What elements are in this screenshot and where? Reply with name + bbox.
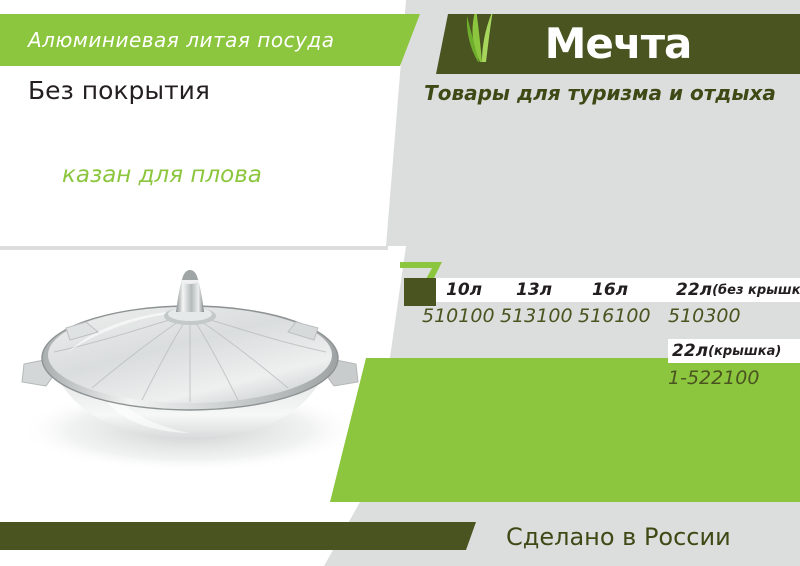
product-code: 516100 — [578, 304, 651, 328]
volume-label: 16л — [592, 280, 628, 300]
product-code: 1-522100 — [668, 365, 759, 391]
footer-olive-bar — [0, 522, 476, 550]
poster-canvas: Алюминиевая литая посуда Мечта Товары дл… — [0, 0, 800, 566]
product-photo — [0, 252, 380, 482]
table-row: 22л (крышка) — [672, 339, 781, 363]
bracket-square-marker — [404, 278, 436, 306]
subtitle-text: Без покрытия — [28, 76, 210, 105]
volume-label: 22л — [672, 341, 708, 361]
logo-plate: Мечта — [436, 14, 800, 74]
banner-title: Алюминиевая литая посуда — [28, 28, 335, 52]
table-row: 13л — [516, 278, 552, 302]
volume-label: 22л — [676, 280, 712, 300]
banner-title-bar: Алюминиевая литая посуда — [0, 14, 420, 66]
volume-label: 13л — [516, 280, 552, 300]
grass-leaf-icon — [460, 14, 500, 64]
logo-text: Мечта — [545, 23, 692, 65]
volume-note: (крышка) — [708, 344, 781, 359]
logo: Мечта — [436, 14, 800, 74]
tagline-text: Товары для туризма и отдыха — [424, 81, 776, 105]
volume-label: 10л — [446, 280, 482, 300]
table-row: 16л — [592, 278, 628, 302]
tagline-bar: Товары для туризма и отдыха — [400, 78, 800, 108]
product-code: 510300 — [668, 304, 741, 328]
volume-note: (без крышки) — [712, 283, 800, 298]
product-code: 513100 — [500, 304, 573, 328]
header-divider-rule — [0, 246, 388, 250]
table-row: 10л — [446, 278, 482, 302]
product-code: 510100 — [422, 304, 495, 328]
product-name-text: казан для плова — [62, 162, 262, 188]
made-in-russia-text: Сделано в России — [506, 520, 731, 554]
table-row: 22л (без крышки) — [676, 278, 800, 302]
